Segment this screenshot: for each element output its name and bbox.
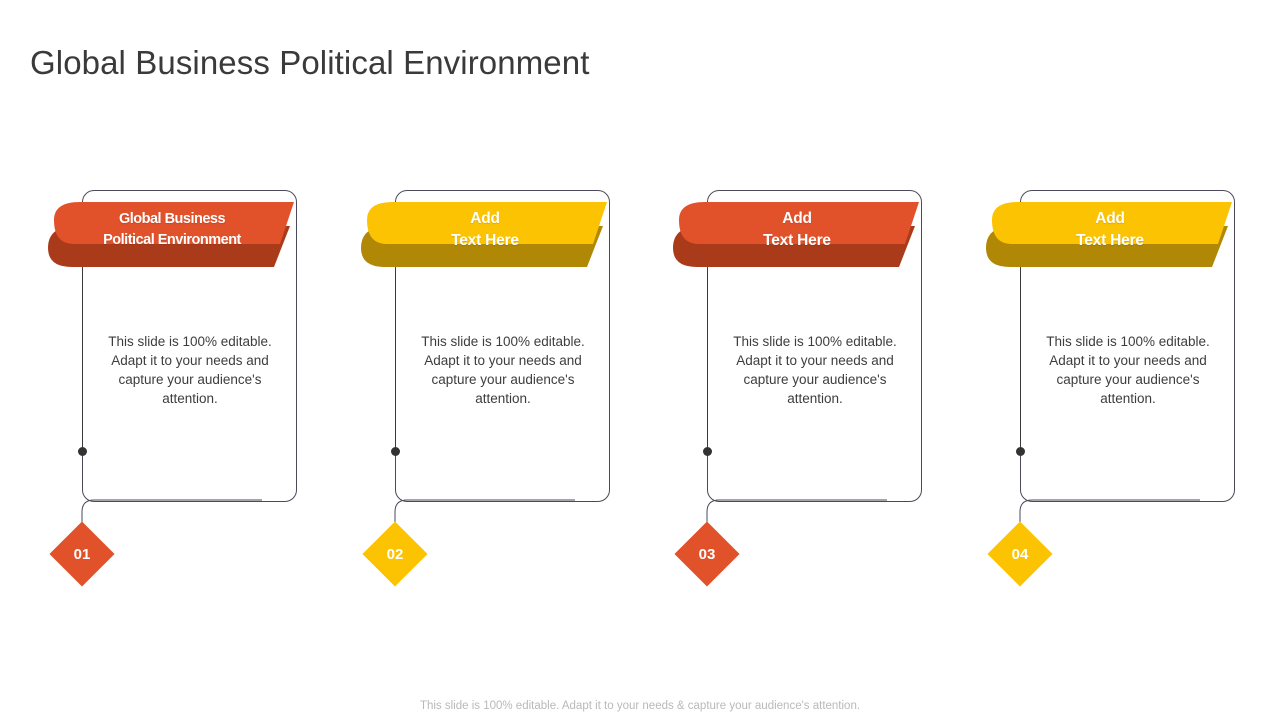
card-body-text: This slide is 100% editable. Adapt it to… xyxy=(1030,332,1226,409)
info-card-04[interactable]: Add Text Here This slide is 100% editabl… xyxy=(978,188,1236,588)
card-connector-dot xyxy=(1016,447,1025,456)
card-ribbon-banner xyxy=(40,198,298,262)
info-card-03[interactable]: Add Text Here This slide is 100% editabl… xyxy=(665,188,923,588)
card-connector-dot xyxy=(703,447,712,456)
card-body-text: This slide is 100% editable. Adapt it to… xyxy=(405,332,601,409)
card-ribbon-banner xyxy=(665,198,923,262)
card-connector-line xyxy=(707,248,708,451)
cards-row: Global Business Political Environment Th… xyxy=(0,188,1280,608)
card-connector-line xyxy=(82,248,83,451)
info-card-01[interactable]: Global Business Political Environment Th… xyxy=(40,188,298,588)
card-connector-line xyxy=(1020,248,1021,451)
card-connector-line xyxy=(395,248,396,451)
card-body-text: This slide is 100% editable. Adapt it to… xyxy=(92,332,288,409)
card-connector-dot xyxy=(391,447,400,456)
card-ribbon-banner xyxy=(353,198,611,262)
info-card-02[interactable]: Add Text Here This slide is 100% editabl… xyxy=(353,188,611,588)
card-body-text: This slide is 100% editable. Adapt it to… xyxy=(717,332,913,409)
card-connector-dot xyxy=(78,447,87,456)
card-ribbon-banner xyxy=(978,198,1236,262)
footer-note: This slide is 100% editable. Adapt it to… xyxy=(0,700,1280,712)
page-title: Global Business Political Environment xyxy=(30,44,589,82)
